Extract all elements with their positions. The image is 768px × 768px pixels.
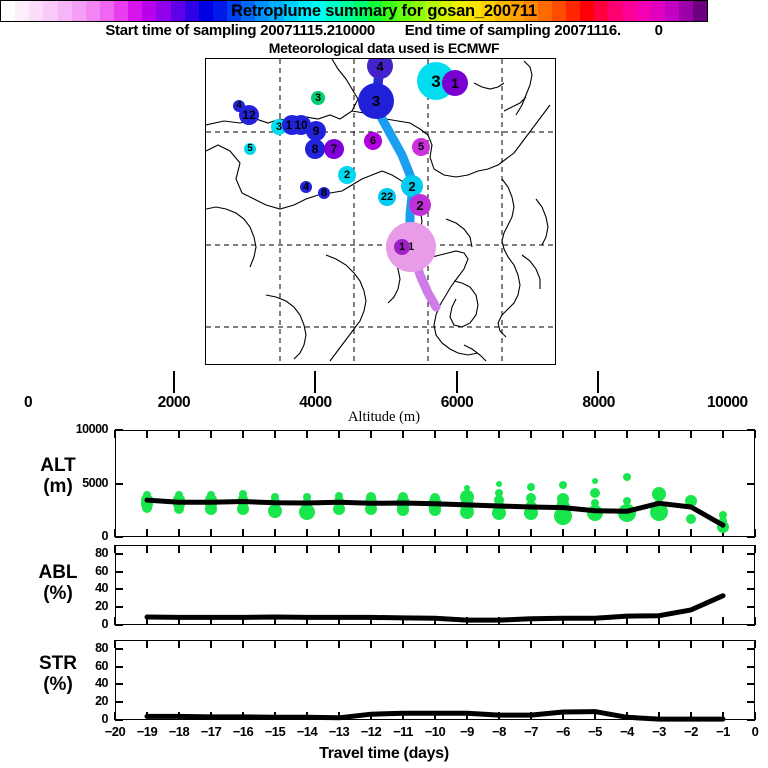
x-axis-tick-label: −16: [225, 724, 261, 739]
map-age-marker-label: 7: [331, 143, 338, 155]
x-axis-tick-mark: [242, 712, 244, 720]
map-age-marker: 2: [409, 194, 431, 216]
y-axis-tick-label: 5000: [58, 476, 108, 490]
x-axis-tick-mark: [594, 545, 596, 553]
retroplume-map[interactable]: 4123531110987624843315222211: [205, 58, 556, 365]
y-axis-tick-mark: [115, 666, 123, 668]
x-axis-tick-mark: [114, 545, 116, 553]
x-axis-tick-mark: [210, 712, 212, 720]
alt-scatter-point: [623, 473, 631, 481]
x-axis-tick-label: −6: [545, 724, 581, 739]
alt-scatter-point: [527, 483, 535, 491]
map-age-marker-label: 5: [418, 142, 424, 153]
x-axis-tick-mark: [722, 640, 724, 648]
x-axis-tick-mark: [306, 430, 308, 438]
map-age-marker: 1: [394, 239, 410, 255]
x-axis-tick-mark: [306, 529, 308, 537]
y-axis-tick-mark: [747, 701, 755, 703]
x-axis-tick-mark: [338, 712, 340, 720]
x-axis-tick-label: −20: [97, 724, 133, 739]
x-axis-tick-mark: [338, 617, 340, 625]
y-axis-tick-label: 60: [58, 659, 108, 673]
x-axis-tick-label: −12: [353, 724, 389, 739]
x-axis-tick-mark: [498, 712, 500, 720]
y-axis-tick-label: 40: [58, 581, 108, 595]
y-axis-tick-mark: [115, 588, 123, 590]
map-age-marker: 5: [412, 138, 430, 156]
x-axis-tick-mark: [434, 529, 436, 537]
map-age-marker: 1: [442, 70, 468, 96]
x-axis-tick-mark: [594, 617, 596, 625]
end-time-label: End time of sampling: [405, 22, 551, 39]
x-axis-tick-mark: [146, 545, 148, 553]
y-axis-tick-mark: [747, 606, 755, 608]
x-axis-tick-mark: [562, 529, 564, 537]
x-axis-tick-mark: [722, 430, 724, 438]
x-axis-tick-mark: [242, 617, 244, 625]
x-axis-tick-mark: [594, 529, 596, 537]
x-axis-tick-mark: [498, 545, 500, 553]
alt-scatter-point: [559, 481, 567, 489]
y-axis-tick-mark: [747, 666, 755, 668]
x-axis-tick-mark: [402, 712, 404, 720]
x-axis-tick-mark: [626, 430, 628, 438]
x-axis-tick-mark: [690, 640, 692, 648]
x-axis-tick-mark: [178, 430, 180, 438]
x-axis-tick-mark: [466, 545, 468, 553]
x-axis-tick-mark: [402, 640, 404, 648]
x-axis-tick-mark: [210, 529, 212, 537]
map-age-marker-label: 5: [247, 144, 253, 154]
x-axis-tick-mark: [658, 430, 660, 438]
map-age-marker: 6: [364, 132, 382, 150]
alt-scatter-point: [299, 504, 315, 520]
y-axis-tick-mark: [115, 571, 123, 573]
map-age-marker-label: 3: [372, 94, 380, 109]
y-axis-tick-label: 40: [58, 676, 108, 690]
x-axis-tick-mark: [754, 712, 756, 720]
x-axis-tick-label: −14: [289, 724, 325, 739]
page-title: Retroplume summary for gosan_200711: [0, 2, 768, 21]
x-axis-tick-mark: [658, 640, 660, 648]
x-axis-tick-mark: [498, 617, 500, 625]
end-time-value: 20071116.: [554, 22, 621, 39]
y-axis-tick-label: 20: [58, 599, 108, 613]
x-axis-tick-mark: [402, 545, 404, 553]
abl-panel[interactable]: [115, 545, 755, 625]
x-axis-tick-mark: [370, 640, 372, 648]
map-age-marker: 8: [318, 187, 330, 199]
x-axis-tick-mark: [466, 617, 468, 625]
y-axis-tick-mark: [115, 483, 123, 485]
x-axis-tick-mark: [114, 712, 116, 720]
x-axis-tick-mark: [274, 430, 276, 438]
x-axis-tick-mark: [114, 430, 116, 438]
y-axis-tick-mark: [115, 624, 123, 626]
map-age-marker-label: 9: [313, 125, 320, 137]
y-axis-tick-mark: [747, 571, 755, 573]
x-axis-tick-mark: [242, 640, 244, 648]
x-axis-tick-mark: [274, 545, 276, 553]
map-age-marker: 8: [305, 139, 325, 159]
x-axis-tick-mark: [530, 617, 532, 625]
y-axis-tick-mark: [747, 553, 755, 555]
x-axis-tick-mark: [242, 529, 244, 537]
x-axis-tick-mark: [434, 617, 436, 625]
x-axis-tick-mark: [370, 430, 372, 438]
map-age-marker-label: 4: [376, 60, 383, 73]
x-axis-tick-mark: [626, 529, 628, 537]
x-axis-tick-mark: [530, 529, 532, 537]
sampling-time-line: Start time of sampling 20071115.210000 E…: [0, 21, 768, 40]
x-axis-tick-mark: [306, 545, 308, 553]
map-age-marker-label: 2: [408, 180, 415, 193]
x-axis-tick-mark: [754, 529, 756, 537]
x-axis-title: Travel time (days): [0, 745, 768, 763]
x-axis-tick-mark: [274, 529, 276, 537]
alt-scatter-point: [397, 504, 409, 516]
x-axis-tick-mark: [498, 529, 500, 537]
x-axis-tick-mark: [594, 712, 596, 720]
x-axis-tick-mark: [338, 529, 340, 537]
map-age-marker-label: 3: [315, 93, 321, 104]
x-axis-tick-label: 0: [737, 724, 768, 739]
x-axis-tick-label: −9: [449, 724, 485, 739]
x-axis-tick-mark: [210, 545, 212, 553]
str-panel[interactable]: [115, 640, 755, 720]
x-axis-tick-label: −8: [481, 724, 517, 739]
map-age-marker-label: 1: [451, 76, 459, 90]
x-axis-tick-mark: [530, 430, 532, 438]
x-axis-tick-mark: [370, 529, 372, 537]
x-axis-tick-mark: [242, 545, 244, 553]
map-age-marker-label: 12: [242, 109, 255, 121]
map-age-marker: 5: [244, 143, 256, 155]
y-axis-tick-mark: [747, 483, 755, 485]
x-axis-tick-mark: [498, 640, 500, 648]
x-axis-tick-mark: [626, 712, 628, 720]
x-axis-tick-mark: [338, 430, 340, 438]
start-time-value: 20071115.210000: [260, 22, 375, 39]
x-axis-tick-mark: [434, 712, 436, 720]
map-age-marker: 7: [324, 139, 344, 159]
map-age-marker-label: 22: [381, 192, 393, 203]
x-axis-tick-mark: [178, 545, 180, 553]
map-age-marker-label: 6: [370, 136, 376, 147]
x-axis-tick-label: −2: [673, 724, 709, 739]
y-axis-tick-label: 80: [58, 641, 108, 655]
y-axis-tick-label: 0: [58, 617, 108, 631]
alt-scatter-point: [618, 504, 636, 522]
x-axis-tick-label: −19: [129, 724, 165, 739]
colorbar-separator: [456, 371, 458, 393]
map-age-marker: 3: [358, 83, 394, 119]
x-axis-tick-mark: [178, 617, 180, 625]
x-axis-tick-mark: [530, 712, 532, 720]
x-axis-tick-mark: [146, 617, 148, 625]
x-axis-tick-mark: [594, 430, 596, 438]
x-axis-tick-label: −3: [641, 724, 677, 739]
x-axis-tick-mark: [338, 640, 340, 648]
x-axis-tick-mark: [690, 617, 692, 625]
x-axis-tick-mark: [306, 617, 308, 625]
x-axis-tick-mark: [114, 640, 116, 648]
x-axis-tick-label: −5: [577, 724, 613, 739]
x-axis-tick-mark: [114, 617, 116, 625]
map-age-marker-label: 8: [321, 188, 327, 199]
x-axis-tick-mark: [146, 529, 148, 537]
map-age-marker-label: 3: [431, 73, 440, 90]
x-axis-tick-mark: [722, 545, 724, 553]
x-axis-tick-mark: [466, 640, 468, 648]
figure-title-block: Retroplume summary for gosan_200711 Star…: [0, 2, 768, 57]
y-axis-tick-mark: [115, 648, 123, 650]
x-axis-tick-mark: [690, 529, 692, 537]
x-axis-tick-mark: [146, 640, 148, 648]
colorbar-title: Altitude (m): [0, 409, 768, 426]
x-axis-tick-mark: [722, 617, 724, 625]
x-axis-tick-mark: [434, 640, 436, 648]
x-axis-tick-mark: [146, 430, 148, 438]
x-axis-tick-mark: [434, 545, 436, 553]
x-axis-tick-mark: [754, 430, 756, 438]
x-axis-tick-mark: [178, 712, 180, 720]
x-axis-tick-label: −10: [417, 724, 453, 739]
y-axis-tick-mark: [747, 588, 755, 590]
map-age-marker: 9: [306, 121, 326, 141]
x-axis-tick-mark: [754, 545, 756, 553]
colorbar-separator: [314, 371, 316, 393]
x-axis-tick-mark: [274, 640, 276, 648]
start-time-label: Start time of sampling: [105, 22, 256, 39]
x-axis-tick-mark: [658, 529, 660, 537]
y-axis-tick-mark: [115, 536, 123, 538]
y-axis-tick-label: 20: [58, 694, 108, 708]
x-axis-tick-mark: [178, 640, 180, 648]
x-axis-tick-label: −11: [385, 724, 421, 739]
map-age-marker: 22: [378, 188, 396, 206]
x-axis-tick-mark: [658, 712, 660, 720]
x-axis-tick-mark: [466, 529, 468, 537]
y-axis-tick-mark: [115, 683, 123, 685]
x-axis-tick-mark: [658, 617, 660, 625]
map-age-marker: 12: [239, 105, 259, 125]
map-age-marker: 3: [311, 91, 325, 105]
y-axis-tick-mark: [115, 553, 123, 555]
x-axis-tick-label: −17: [193, 724, 229, 739]
alt-scatter-point: [142, 503, 152, 513]
x-axis-tick-mark: [402, 617, 404, 625]
x-axis-tick-mark: [626, 640, 628, 648]
x-axis-tick-mark: [658, 545, 660, 553]
map-age-marker: 4: [300, 181, 312, 193]
map-age-marker-label: 2: [416, 199, 423, 212]
colorbar-separator: [173, 371, 175, 393]
alt-scatter-point: [554, 507, 572, 525]
end-time-value-hour: 0: [655, 22, 663, 39]
y-axis-tick-mark: [747, 648, 755, 650]
x-axis-tick-mark: [562, 640, 564, 648]
map-age-marker-label: 8: [312, 143, 319, 155]
y-axis-tick-label: 0: [58, 529, 108, 543]
x-axis-tick-mark: [562, 617, 564, 625]
y-axis-tick-mark: [115, 701, 123, 703]
x-axis-tick-mark: [370, 617, 372, 625]
x-axis-tick-mark: [530, 640, 532, 648]
x-axis-tick-mark: [722, 712, 724, 720]
x-axis-tick-mark: [466, 712, 468, 720]
x-axis-tick-mark: [274, 712, 276, 720]
x-axis-tick-mark: [306, 712, 308, 720]
map-age-marker-label: 1: [399, 242, 405, 253]
x-axis-tick-mark: [178, 529, 180, 537]
x-axis-tick-mark: [242, 430, 244, 438]
map-age-marker-label: 2: [344, 170, 350, 181]
alt-scatter-point: [174, 504, 184, 514]
x-axis-tick-mark: [562, 430, 564, 438]
alt-scatter-point: [686, 514, 696, 524]
x-axis-tick-mark: [594, 640, 596, 648]
x-axis-tick-mark: [498, 430, 500, 438]
alt-scatter-point: [365, 503, 377, 515]
x-axis-tick-mark: [626, 617, 628, 625]
y-axis-tick-mark: [747, 683, 755, 685]
y-axis-tick-mark: [115, 429, 123, 431]
x-axis-tick-mark: [338, 545, 340, 553]
x-axis-tick-label: −1: [705, 724, 741, 739]
x-axis-tick-mark: [370, 545, 372, 553]
x-axis-tick-mark: [370, 712, 372, 720]
x-axis-tick-mark: [402, 529, 404, 537]
x-axis-tick-label: −7: [513, 724, 549, 739]
map-age-marker-label: 4: [303, 182, 309, 193]
met-data-line: Meteorological data used is ECMWF: [0, 40, 768, 57]
x-axis-tick-mark: [690, 545, 692, 553]
x-axis-tick-mark: [434, 430, 436, 438]
x-axis-tick-mark: [114, 529, 116, 537]
map-age-marker: 2: [338, 166, 356, 184]
x-axis-tick-label: −13: [321, 724, 357, 739]
x-axis-tick-mark: [562, 545, 564, 553]
x-axis-tick-mark: [754, 640, 756, 648]
x-axis-tick-mark: [690, 712, 692, 720]
x-axis-tick-mark: [210, 640, 212, 648]
x-axis-tick-mark: [274, 617, 276, 625]
x-axis-tick-label: −15: [257, 724, 293, 739]
x-axis-tick-mark: [626, 545, 628, 553]
y-axis-tick-mark: [115, 606, 123, 608]
x-axis-tick-mark: [210, 617, 212, 625]
x-axis-tick-label: −18: [161, 724, 197, 739]
colorbar-separator: [597, 371, 599, 393]
y-axis-tick-label: 60: [58, 564, 108, 578]
x-axis-tick-mark: [466, 430, 468, 438]
x-axis-tick-mark: [690, 430, 692, 438]
x-axis-tick-mark: [562, 712, 564, 720]
alt-scatter-point: [496, 481, 502, 487]
y-axis-tick-label: 80: [58, 546, 108, 560]
x-axis-tick-mark: [754, 617, 756, 625]
x-axis-tick-mark: [210, 430, 212, 438]
x-axis-tick-mark: [146, 712, 148, 720]
x-axis-tick-label: −4: [609, 724, 645, 739]
x-axis-tick-mark: [402, 430, 404, 438]
x-axis-tick-mark: [530, 545, 532, 553]
x-axis-tick-mark: [306, 640, 308, 648]
y-axis-tick-mark: [115, 719, 123, 721]
y-axis-tick-label: 10000: [58, 422, 108, 436]
